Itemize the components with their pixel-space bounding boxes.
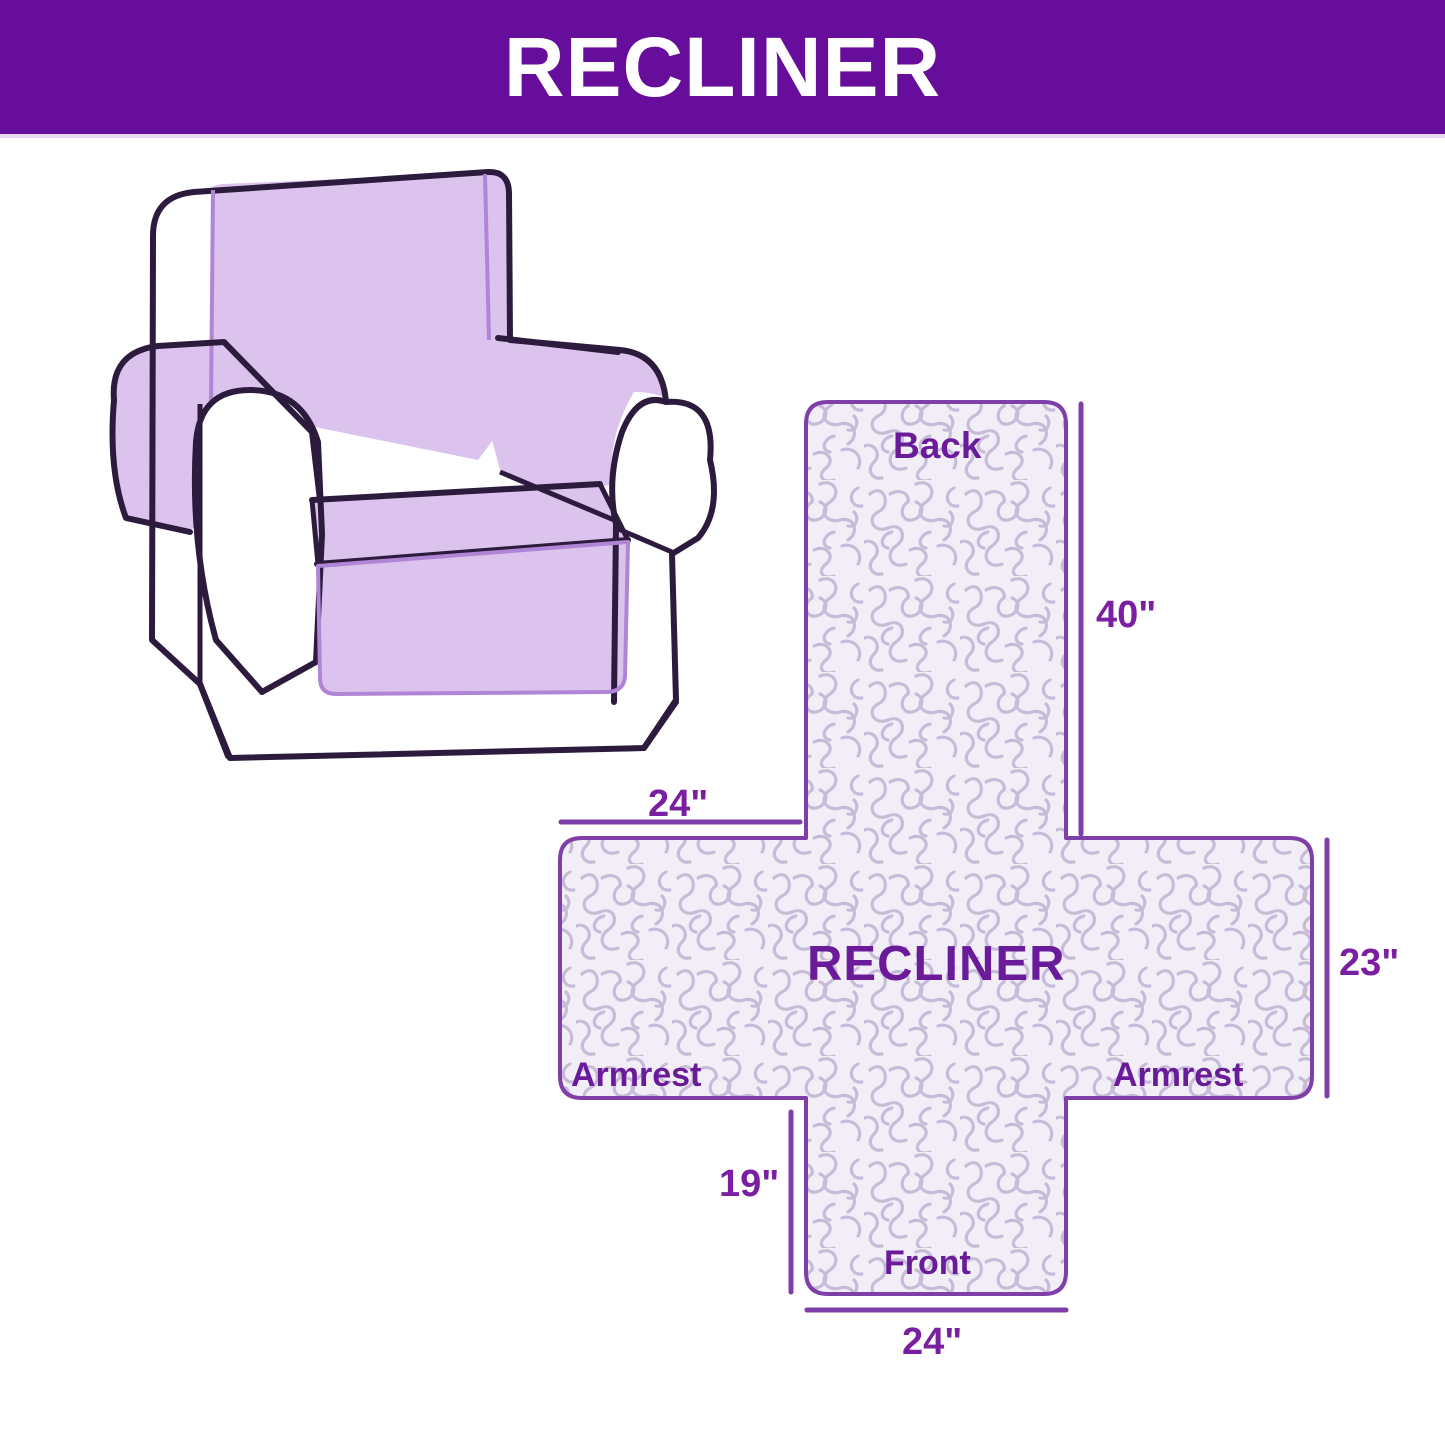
dimension-label-front-height: 19": [719, 1165, 779, 1203]
dimension-label-armrest-width: 24": [648, 785, 708, 823]
chair-right-arm-roll: [611, 392, 711, 740]
page-title: RECLINER: [504, 25, 941, 109]
dimension-label-armrest-height: 23": [1339, 944, 1399, 982]
chair-front-body: [200, 664, 676, 756]
chair-left-outer-side: [153, 190, 214, 680]
chair-back-seam-right: [485, 174, 489, 340]
chair-left-arm-roll-inner: [195, 442, 262, 692]
chair-back-seam-left: [211, 190, 213, 404]
dimension-label-front-width: 24": [902, 1323, 962, 1361]
chair-right-arm-cover: [484, 338, 664, 500]
panel-label-front: Front: [884, 1246, 971, 1280]
header-banner: RECLINER: [0, 0, 1445, 134]
chair-seat-cushion: [312, 484, 628, 562]
chair-right-arm-inner-edge: [498, 338, 618, 352]
chair-outer-outline: [152, 172, 714, 758]
chair-left-arm-roll-outline: [196, 390, 322, 692]
chair-seat-right-edge: [600, 484, 628, 540]
chair-left-arm-roll: [195, 390, 322, 690]
dimension-label-back-height: 40": [1096, 596, 1156, 634]
chair-back-cover: [203, 173, 508, 460]
chair-left-arm-cover: [112, 342, 310, 530]
chair-seat-left-edge: [312, 500, 318, 564]
chair-base-front-line: [200, 684, 228, 756]
chair-seat-back-seam: [312, 484, 600, 500]
chair-left-arm-upper-edge: [114, 342, 320, 500]
chair-skirt-cover: [318, 542, 628, 694]
chair-skirt-outline: [318, 542, 628, 694]
panel-label-back: Back: [893, 427, 981, 464]
header-underline: [0, 134, 1445, 138]
chair-base-right-line: [644, 702, 676, 748]
panel-label-armrest-right: Armrest: [1113, 1058, 1243, 1092]
chair-right-arm-cover-seam: [500, 472, 614, 520]
page-root: RECLINER: [0, 0, 1445, 1445]
chair-right-arm-roll-bottom: [616, 528, 672, 552]
panel-label-armrest-left: Armrest: [571, 1058, 701, 1092]
pattern-center-label: RECLINER: [807, 940, 1065, 989]
chair-right-arm-roll-outline: [612, 400, 666, 702]
slipcover-pattern-diagram: [0, 0, 1445, 1445]
slipcover-cross-shape: [560, 402, 1312, 1294]
chair-left-arm-outer-edge: [113, 400, 191, 532]
chair-seat-front-seam: [317, 540, 628, 564]
chair-drawing: [112, 172, 714, 758]
recliner-chair-illustration: [0, 0, 1445, 1445]
pattern-shape-group: [560, 402, 1327, 1310]
